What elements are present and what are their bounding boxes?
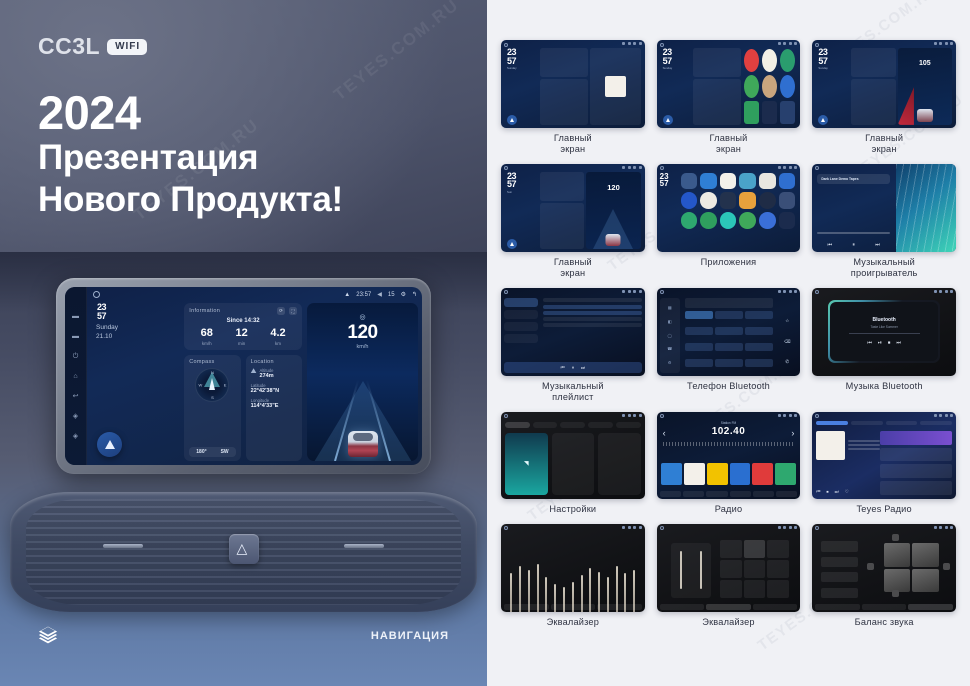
thumbnail-apps[interactable]: 2357: [657, 164, 801, 252]
clock-hours: 23: [95, 303, 179, 312]
thumbnail-sound-balance[interactable]: [812, 524, 956, 612]
gallery-item[interactable]: Эквалайзер: [501, 524, 645, 628]
wifi-icon[interactable]: ◥: [505, 433, 548, 496]
track-title: Dark Lane Demo Tapes: [817, 174, 890, 184]
pause-icon[interactable]: ⏸: [572, 365, 574, 370]
camera-icon[interactable]: ◈: [73, 433, 78, 440]
compass-n: N: [211, 370, 214, 375]
gallery-caption: Музыкальныйпроигрыватель: [851, 257, 918, 280]
information-title: Information: [189, 308, 220, 314]
balance-left-button[interactable]: [867, 563, 874, 570]
prev-icon[interactable]: ⏮: [816, 489, 820, 495]
gallery-item[interactable]: ▦◧ ◯☎⚙ ☆⌫✆ Телефон Bluetooth: [657, 288, 801, 404]
hazard-light-button[interactable]: [229, 534, 259, 564]
next-icon[interactable]: ⏭: [835, 489, 839, 495]
wifi-icon: ▲: [344, 292, 350, 298]
thumbnail-settings[interactable]: ◥: [501, 412, 645, 500]
audio-wave-visual: [896, 164, 956, 252]
gallery-item[interactable]: Баланс звука: [812, 524, 956, 628]
stat-distance: 4.2 km: [270, 328, 285, 346]
gallery-item[interactable]: 2357Sun 120 Главныйэкран: [501, 164, 645, 280]
refresh-icon[interactable]: ⟳: [277, 307, 285, 315]
compass-card[interactable]: Compass N E S W: [184, 355, 240, 461]
gallery-caption: Эквалайзер: [702, 617, 754, 629]
volume-up-icon[interactable]: ▬: [72, 333, 79, 340]
backspace-icon[interactable]: ⌫: [784, 339, 790, 345]
home-indicator-icon[interactable]: [93, 291, 100, 298]
thumb-speed: 105: [919, 60, 931, 67]
gallery-item[interactable]: ⏮⏹ ⏭♡ Teyes Радио: [812, 412, 956, 516]
status-bar: ▲ 23:57 ◀ 15 ⚙ ↰: [344, 291, 417, 298]
gallery-item[interactable]: Bluetooth Taste Like Summer ⏮⏯ ⏹⏭ Музыка…: [812, 288, 956, 404]
home-icon[interactable]: ⌂: [73, 373, 77, 380]
balance-front-button[interactable]: [892, 534, 899, 541]
gallery-caption: Телефон Bluetooth: [687, 381, 770, 393]
bluetooth-title: Bluetooth: [873, 317, 896, 323]
call-icon[interactable]: ✆: [785, 359, 789, 365]
navigation-label: НАВИГАЦИЯ: [371, 630, 449, 642]
headline-line-1: Презентация: [38, 137, 343, 178]
car-interior-photo: ▬ ▬ ⏻ ⌂ ↩ ◈ ◈ ▲ 23:57 ◀: [0, 252, 487, 686]
stat-unit: km/h: [201, 341, 213, 346]
dialpad-icon[interactable]: ▦: [668, 305, 672, 310]
call-log-icon[interactable]: ☎: [667, 346, 672, 351]
thumbnail-teyes-radio[interactable]: ⏮⏹ ⏭♡: [812, 412, 956, 500]
bluetooth-track: Taste Like Summer: [871, 325, 898, 329]
clock-column: 23 57 Sunday 21.10: [91, 303, 179, 461]
radio-band: Station FM: [657, 421, 801, 425]
prev-icon[interactable]: ⏮: [867, 340, 872, 346]
volume-level: 15: [388, 292, 395, 298]
gallery-grid: 2357Sunday Главныйэкран 2357Sunday: [501, 40, 956, 628]
bluetooth-card: Bluetooth Taste Like Summer ⏮⏯ ⏹⏭: [828, 300, 940, 363]
location-title: Location: [251, 359, 297, 365]
thumbnail-equalizer-simple[interactable]: [657, 524, 801, 612]
next-icon[interactable]: ⏭: [896, 340, 901, 346]
gallery-item[interactable]: 2357 Приложения: [657, 164, 801, 280]
gallery-caption: Настройки: [549, 504, 596, 516]
head-unit-screen[interactable]: ▬ ▬ ⏻ ⌂ ↩ ◈ ◈ ▲ 23:57 ◀: [65, 287, 422, 465]
stat-unit: km: [270, 341, 285, 346]
next-station-icon[interactable]: ›: [791, 428, 794, 438]
thumb-speed: 120: [607, 183, 620, 192]
gallery-item[interactable]: Station FM 102.40 ‹ › Радио: [657, 412, 801, 516]
altitude-value: 274m: [260, 373, 274, 379]
compass-direction: SW: [221, 449, 229, 455]
clock-minutes: 57: [95, 312, 179, 321]
navigation-button[interactable]: [97, 432, 122, 457]
left-hero-panel: TEYES.COM.RU TEYES.COM.RU TEYES.COM.RU T…: [0, 0, 487, 686]
thumbnail-radio[interactable]: Station FM 102.40 ‹ ›: [657, 412, 801, 500]
location-card[interactable]: Location ⛰ Altitude 274m: [246, 355, 302, 461]
clock-date: 21.10: [96, 333, 179, 342]
settings-icon[interactable]: ⚙: [668, 360, 672, 365]
back-icon[interactable]: ↩: [73, 393, 79, 400]
compass-title: Compass: [189, 359, 235, 365]
compass-s: S: [211, 395, 214, 400]
gallery-item[interactable]: ◥ Настройки: [501, 412, 645, 516]
gallery-caption: Музыка Bluetooth: [846, 381, 923, 393]
balance-pad[interactable]: [884, 543, 939, 592]
next-icon[interactable]: ⏭: [581, 365, 585, 370]
favorite-icon[interactable]: ☆: [785, 318, 789, 324]
speed-value: 120: [347, 322, 377, 344]
stop-icon[interactable]: ⏹: [826, 489, 828, 495]
driving-view[interactable]: ◎ 120 km/h: [307, 303, 418, 461]
thumbnail-home-media[interactable]: 2357Sunday: [501, 40, 645, 128]
vehicle-icon: [348, 431, 378, 457]
favorite-icon[interactable]: ♡: [845, 489, 849, 495]
compass-w: W: [198, 383, 202, 388]
info-column: Information ⟳ ⛶ Since 14:32: [184, 303, 302, 461]
gallery-caption: Главныйэкран: [865, 133, 903, 156]
screen-gallery-panel: TEYES.COM.RU TEYES.COM.RU TEYES.COM.RU T…: [487, 0, 970, 686]
vent-slider-right[interactable]: [344, 544, 384, 548]
brand-logo: CC3L WIFI: [38, 33, 147, 60]
stat-value: 4.2: [270, 328, 285, 339]
screen-content: ▲ 23:57 ◀ 15 ⚙ ↰ 23 57 Sunday: [87, 287, 422, 465]
search-icon[interactable]: ◯: [667, 333, 671, 338]
stat-value: 12: [235, 328, 247, 339]
thumbnail-home-drive[interactable]: 2357Sunday 105: [812, 40, 956, 128]
gallery-caption: Teyes Радио: [857, 504, 912, 516]
stat-duration: 12 min: [235, 328, 247, 346]
information-card[interactable]: Information ⟳ ⛶ Since 14:32: [184, 303, 302, 350]
power-icon[interactable]: ⏻: [73, 353, 79, 360]
head-unit-bezel: ▬ ▬ ⏻ ⌂ ↩ ◈ ◈ ▲ 23:57 ◀: [56, 278, 431, 474]
gallery-caption: Главныйэкран: [554, 133, 592, 156]
prev-icon[interactable]: ⏮: [828, 242, 833, 248]
balance-right-button[interactable]: [943, 563, 950, 570]
prev-icon[interactable]: ⏮: [561, 365, 565, 370]
speed-icon: ◎: [359, 313, 365, 321]
thumbnail-home-apps[interactable]: 2357Sunday: [657, 40, 801, 128]
volume-icon[interactable]: ◀: [377, 291, 382, 298]
vent-slider-left[interactable]: [103, 544, 143, 548]
longitude-value: 114°4'33"E: [251, 403, 297, 409]
hazard-triangle-icon: [236, 542, 252, 556]
gallery-caption: Приложения: [701, 257, 757, 269]
gallery-caption: Эквалайзер: [547, 617, 599, 629]
gallery-item[interactable]: Dark Lane Demo Tapes ⏮⏸⏭ Музыкальныйпрои…: [812, 164, 956, 280]
thumbnail-equalizer-bars[interactable]: [501, 524, 645, 612]
stat-value: 68: [201, 328, 213, 339]
gallery-caption: Главныйэкран: [709, 133, 747, 156]
radio-frequency: 102.40: [657, 426, 801, 437]
gallery-caption: Главныйэкран: [554, 257, 592, 280]
latitude-value: 22°42'38"N: [251, 388, 297, 394]
thumbnail-bluetooth-phone[interactable]: ▦◧ ◯☎⚙ ☆⌫✆: [657, 288, 801, 376]
compass-e: E: [224, 383, 227, 388]
headline-line-2: Нового Продукта!: [38, 179, 343, 220]
compass-dial: N E S W: [195, 368, 229, 402]
stat-speed: 68 km/h: [201, 328, 213, 346]
gallery-caption: Радио: [715, 504, 743, 516]
mountain-icon: ⛰: [251, 368, 257, 376]
gallery-item[interactable]: 2357Sunday 105 Главныйэкран: [812, 40, 956, 156]
clock-weekday: Sunday: [96, 324, 179, 333]
watermark: TEYES.COM.RU: [330, 0, 463, 105]
gallery-item[interactable]: ⏮⏸⏭ Музыкальныйплейлист: [501, 288, 645, 404]
mic-icon[interactable]: ◈: [73, 413, 78, 420]
compass-degrees: 180°: [196, 449, 206, 455]
trip-since: Since 14:32: [189, 318, 297, 324]
thumbnail-bluetooth-music[interactable]: Bluetooth Taste Like Summer ⏮⏯ ⏹⏭: [812, 288, 956, 376]
trip-stats: 68 km/h 12 min 4.2: [189, 328, 297, 346]
wifi-badge: WIFI: [107, 39, 147, 55]
volume-down-icon[interactable]: ▬: [72, 313, 79, 320]
balance-rear-button[interactable]: [892, 590, 899, 597]
prev-station-icon[interactable]: ‹: [663, 428, 666, 438]
gallery-item[interactable]: 2357Sunday Главныйэкран: [657, 40, 801, 156]
gallery-caption: Музыкальныйплейлист: [542, 381, 604, 404]
stop-icon[interactable]: ⏹: [888, 340, 891, 346]
expand-icon[interactable]: ⛶: [289, 307, 297, 315]
play-pause-icon[interactable]: ⏯: [878, 340, 882, 346]
gallery-item[interactable]: 2357Sunday Главныйэкран: [501, 40, 645, 156]
gallery-item[interactable]: Эквалайзер: [657, 524, 801, 628]
speed-unit: km/h: [357, 344, 369, 350]
thumbnail-home-speed[interactable]: 2357Sun 120: [501, 164, 645, 252]
thumbnail-playlist[interactable]: ⏮⏸⏭: [501, 288, 645, 376]
next-icon[interactable]: ⏭: [875, 242, 880, 248]
status-time: 23:57: [356, 292, 371, 298]
gallery-caption: Баланс звука: [855, 617, 914, 629]
home-widgets: 23 57 Sunday 21.10 Information: [91, 303, 418, 461]
back-arrow-icon[interactable]: ↰: [412, 291, 417, 298]
brand-model: CC3L: [38, 33, 100, 60]
presentation-slide: TEYES.COM.RU TEYES.COM.RU TEYES.COM.RU T…: [0, 0, 970, 686]
screen-side-buttons[interactable]: ▬ ▬ ⏻ ⌂ ↩ ◈ ◈: [65, 287, 87, 465]
headline-year: 2024: [38, 88, 343, 137]
pause-icon[interactable]: ⏸: [852, 242, 855, 248]
thumbnail-music-player[interactable]: Dark Lane Demo Tapes ⏮⏸⏭: [812, 164, 956, 252]
stat-unit: min: [235, 341, 247, 346]
page-title: 2024 Презентация Нового Продукта!: [38, 88, 343, 220]
layers-icon: [38, 625, 58, 645]
gear-icon[interactable]: ⚙: [401, 291, 406, 298]
contacts-icon[interactable]: ◧: [668, 319, 672, 324]
